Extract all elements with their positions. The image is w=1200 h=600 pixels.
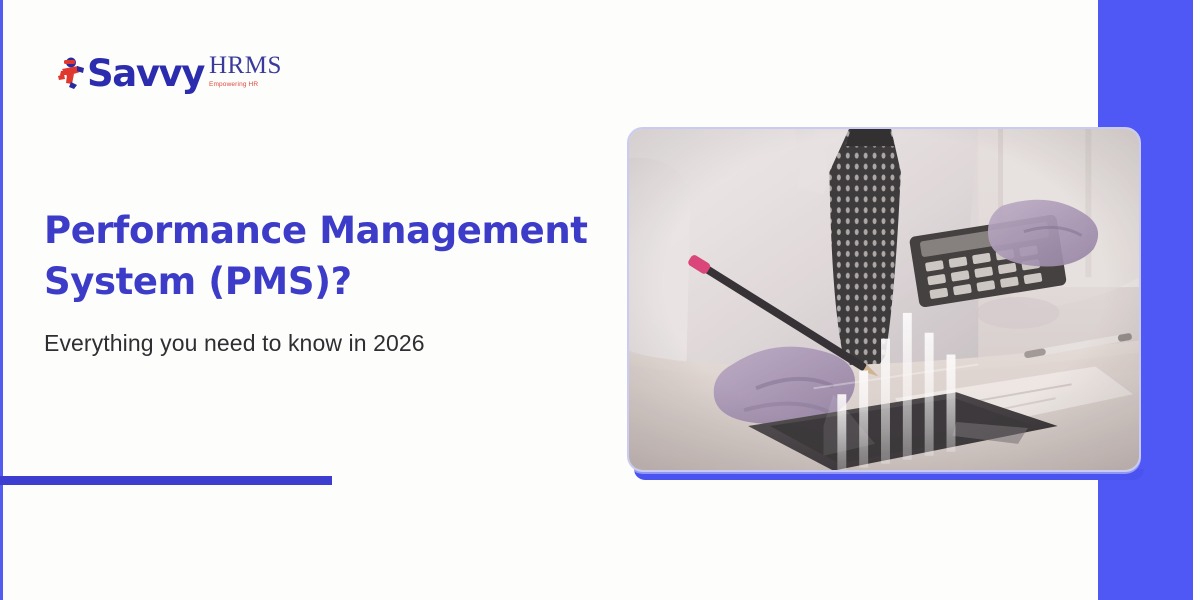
page-subtitle: Everything you need to know in 2026	[44, 328, 604, 358]
left-edge-accent-rule	[0, 0, 3, 600]
savvy-mascot-icon	[58, 56, 86, 90]
brand-suffix: HRMS	[209, 53, 282, 78]
brand-wordmark: Savvy	[87, 56, 204, 92]
hero-image-card	[627, 127, 1141, 472]
page-title: Performance Management System (PMS)?	[44, 205, 604, 307]
hero-banner: Savvy HRMS Empowering HR Performance Man…	[0, 0, 1200, 600]
accent-underline-bar	[0, 476, 332, 485]
brand-tagline: Empowering HR	[209, 80, 258, 89]
brand-logo[interactable]: Savvy HRMS Empowering HR	[58, 44, 282, 90]
brand-suffix-group: HRMS Empowering HR	[209, 53, 282, 89]
hero-photo	[629, 129, 1139, 470]
hero-copy: Performance Management System (PMS)? Eve…	[44, 205, 604, 358]
right-band-outer-margin	[1193, 0, 1200, 600]
